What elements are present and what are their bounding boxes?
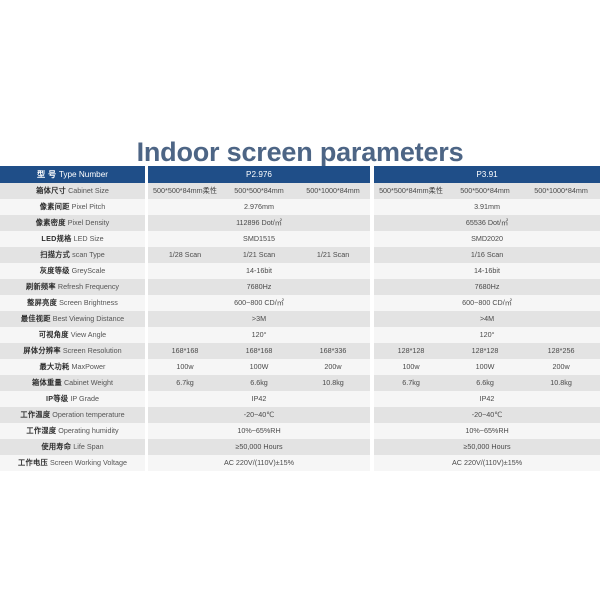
cell-r10-p1-2: 168*336 (296, 343, 370, 359)
row-label-cn: 扫描方式 (40, 250, 70, 259)
row-label-cn: 刷新频率 (26, 282, 56, 291)
row-label-en: Refresh Frequency (56, 282, 119, 291)
row-label-cn: 型 号 (37, 170, 57, 179)
cell-r16-p2: ≥50,000 Hours (374, 439, 600, 455)
cell-r12-p2-1: 6.6kg (448, 375, 522, 391)
cell-r8-p1: >3M (148, 311, 370, 327)
cell-r3-p2: SMD2020 (374, 231, 600, 247)
row-label-cn: 工作温度 (20, 410, 50, 419)
cell-r10-p2-0: 128*128 (374, 343, 448, 359)
row-label-8: 最佳视距 Best Viewing Distance (0, 311, 145, 327)
row-label-cn: 可视角度 (39, 330, 69, 339)
cell-r4-p1-1: 1/21 Scan (222, 247, 296, 263)
cell-r0-p2-2: 500*1000*84mm (522, 183, 600, 199)
cell-r11-p1-2: 200w (296, 359, 370, 375)
table-row: 箱体重量 Cabinet Weight6.7kg6.6kg10.8kg6.7kg… (0, 375, 600, 391)
cell-r13-p2: IP42 (374, 391, 600, 407)
table-row: 整屏亮度 Screen Brightness600~800 CD/㎡600~80… (0, 295, 600, 311)
row-label-cn: 像素间距 (40, 202, 70, 211)
cell-r12-p1-0: 6.7kg (148, 375, 222, 391)
cell-r0-p2-1: 500*500*84mm (448, 183, 522, 199)
cell-r10-p1-1: 168*168 (222, 343, 296, 359)
row-label-en: LED Size (72, 234, 104, 243)
table-row: 工作电压 Screen Working VoltageAC 220V/(110V… (0, 455, 600, 471)
table-row: 最大功耗 MaxPower100w100W200w100w100W200w (0, 359, 600, 375)
cell-r3-p1: SMD1515 (148, 231, 370, 247)
table-row: 使用寿命 Life Span≥50,000 Hours≥50,000 Hours (0, 439, 600, 455)
cell-r15-p1: 10%~65%RH (148, 423, 370, 439)
cell-r16-p1: ≥50,000 Hours (148, 439, 370, 455)
cell-r5-p1: 14-16bit (148, 263, 370, 279)
table-row: 最佳视距 Best Viewing Distance>3M>4M (0, 311, 600, 327)
cell-r0-p1-1: 500*500*84mm (222, 183, 296, 199)
row-label-3: LED规格 LED Size (0, 231, 145, 247)
row-label-cn: 整屏亮度 (27, 298, 57, 307)
cell-r7-p1: 600~800 CD/㎡ (148, 295, 370, 311)
cell-r11-p2-0: 100w (374, 359, 448, 375)
row-label-cn: LED规格 (41, 234, 71, 243)
product-header-1: P3.91 (374, 166, 600, 183)
cell-r17-p2: AC 220V/(110V)±15% (374, 455, 600, 471)
cell-r11-p1-0: 100w (148, 359, 222, 375)
cell-r4-p2: 1/16 Scan (374, 247, 600, 263)
cell-r8-p2: >4M (374, 311, 600, 327)
cell-r9-p2: 120° (374, 327, 600, 343)
cell-r5-p2: 14-16bit (374, 263, 600, 279)
table-row: LED规格 LED SizeSMD1515SMD2020 (0, 231, 600, 247)
row-label-en: Operation temperature (50, 410, 124, 419)
cell-r1-p2: 3.91mm (374, 199, 600, 215)
row-label-14: 工作温度 Operation temperature (0, 407, 145, 423)
row-label-0: 箱体尺寸 Cabinet Size (0, 183, 145, 199)
row-label-4: 扫描方式 scan Type (0, 247, 145, 263)
cell-r17-p1: AC 220V/(110V)±15% (148, 455, 370, 471)
table-body: 型 号 Type NumberP2.976P3.91箱体尺寸 Cabinet S… (0, 166, 600, 471)
table-row: 可视角度 View Angle120°120° (0, 327, 600, 343)
row-label-en: Type Number (57, 170, 108, 179)
cell-r14-p1: -20~40℃ (148, 407, 370, 423)
row-label-cn: 箱体尺寸 (36, 186, 66, 195)
cell-r0-p2-0: 500*500*84mm柔性 (374, 183, 448, 199)
spec-sheet-page: Indoor screen parameters 型 号 Type Number… (0, 0, 600, 600)
row-label-cn: 最大功耗 (40, 362, 70, 371)
row-label-12: 箱体重量 Cabinet Weight (0, 375, 145, 391)
row-label-en: Screen Resolution (61, 346, 122, 355)
table-row: 箱体尺寸 Cabinet Size500*500*84mm柔性500*500*8… (0, 183, 600, 199)
row-label-en: Pixel Density (66, 218, 110, 227)
row-label-cn: 像素密度 (36, 218, 66, 227)
row-label-en: IP Grade (68, 394, 99, 403)
row-label-1: 像素间距 Pixel Pitch (0, 199, 145, 215)
row-label-cn: 工作电压 (18, 458, 48, 467)
table-row: 工作湿度 Operating humidity10%~65%RH10%~65%R… (0, 423, 600, 439)
table-row: 像素间距 Pixel Pitch2.976mm3.91mm (0, 199, 600, 215)
row-label-cn: IP等级 (46, 394, 68, 403)
row-label-en: MaxPower (70, 362, 106, 371)
cell-r10-p1-0: 168*168 (148, 343, 222, 359)
row-label-en: Cabinet Weight (62, 378, 113, 387)
cell-r7-p2: 600~800 CD/㎡ (374, 295, 600, 311)
cell-r11-p2-2: 200w (522, 359, 600, 375)
row-label-cn: 工作湿度 (26, 426, 56, 435)
row-label-en: Screen Working Voltage (48, 458, 127, 467)
row-label-en: Best Viewing Distance (51, 314, 124, 323)
cell-r11-p2-1: 100W (448, 359, 522, 375)
cell-r0-p1-2: 500*1000*84mm (296, 183, 370, 199)
page-title: Indoor screen parameters (0, 137, 600, 168)
cell-r10-p2-1: 128*128 (448, 343, 522, 359)
row-label-cn: 箱体重量 (32, 378, 62, 387)
row-label-en: Pixel Pitch (70, 202, 106, 211)
cell-r2-p2: 65536 Dot/㎡ (374, 215, 600, 231)
table-row: 像素密度 Pixel Density112896 Dot/㎡65536 Dot/… (0, 215, 600, 231)
table-row: 扫描方式 scan Type1/28 Scan1/21 Scan1/21 Sca… (0, 247, 600, 263)
cell-r1-p1: 2.976mm (148, 199, 370, 215)
cell-r0-p1-0: 500*500*84mm柔性 (148, 183, 222, 199)
row-label-11: 最大功耗 MaxPower (0, 359, 145, 375)
cell-r9-p1: 120° (148, 327, 370, 343)
row-label-header: 型 号 Type Number (0, 166, 145, 183)
row-label-7: 整屏亮度 Screen Brightness (0, 295, 145, 311)
table-row: 屏体分辨率 Screen Resolution168*168168*168168… (0, 343, 600, 359)
cell-r12-p1-2: 10.8kg (296, 375, 370, 391)
row-label-17: 工作电压 Screen Working Voltage (0, 455, 145, 471)
table-header-row: 型 号 Type NumberP2.976P3.91 (0, 166, 600, 183)
specifications-table-container: 型 号 Type NumberP2.976P3.91箱体尺寸 Cabinet S… (0, 166, 600, 471)
row-label-en: Life Span (71, 442, 103, 451)
row-label-en: View Angle (69, 330, 106, 339)
row-label-en: Cabinet Size (66, 186, 109, 195)
row-label-cn: 屏体分辨率 (23, 346, 60, 355)
row-label-cn: 灰度等级 (40, 266, 70, 275)
cell-r2-p1: 112896 Dot/㎡ (148, 215, 370, 231)
cell-r10-p2-2: 128*256 (522, 343, 600, 359)
product-header-0: P2.976 (148, 166, 370, 183)
row-label-9: 可视角度 View Angle (0, 327, 145, 343)
row-label-6: 刷新频率 Refresh Frequency (0, 279, 145, 295)
cell-r4-p1-2: 1/21 Scan (296, 247, 370, 263)
cell-r12-p2-0: 6.7kg (374, 375, 448, 391)
row-label-16: 使用寿命 Life Span (0, 439, 145, 455)
cell-r6-p2: 7680Hz (374, 279, 600, 295)
row-label-cn: 使用寿命 (41, 442, 71, 451)
table-row: 灰度等级 GreyScale14-16bit14-16bit (0, 263, 600, 279)
cell-r13-p1: IP42 (148, 391, 370, 407)
row-label-cn: 最佳视距 (21, 314, 51, 323)
cell-r15-p2: 10%~65%RH (374, 423, 600, 439)
row-label-en: scan Type (70, 250, 105, 259)
cell-r12-p2-2: 10.8kg (522, 375, 600, 391)
row-label-en: Screen Brightness (57, 298, 118, 307)
row-label-en: GreyScale (70, 266, 106, 275)
row-label-15: 工作湿度 Operating humidity (0, 423, 145, 439)
table-row: 工作温度 Operation temperature-20~40℃-20~40℃ (0, 407, 600, 423)
table-row: IP等级 IP GradeIP42IP42 (0, 391, 600, 407)
specifications-table: 型 号 Type NumberP2.976P3.91箱体尺寸 Cabinet S… (0, 166, 600, 471)
row-label-10: 屏体分辨率 Screen Resolution (0, 343, 145, 359)
cell-r4-p1-0: 1/28 Scan (148, 247, 222, 263)
row-label-13: IP等级 IP Grade (0, 391, 145, 407)
cell-r12-p1-1: 6.6kg (222, 375, 296, 391)
cell-r14-p2: -20~40℃ (374, 407, 600, 423)
cell-r11-p1-1: 100W (222, 359, 296, 375)
row-label-2: 像素密度 Pixel Density (0, 215, 145, 231)
table-row: 刷新频率 Refresh Frequency7680Hz7680Hz (0, 279, 600, 295)
cell-r6-p1: 7680Hz (148, 279, 370, 295)
row-label-5: 灰度等级 GreyScale (0, 263, 145, 279)
row-label-en: Operating humidity (56, 426, 118, 435)
